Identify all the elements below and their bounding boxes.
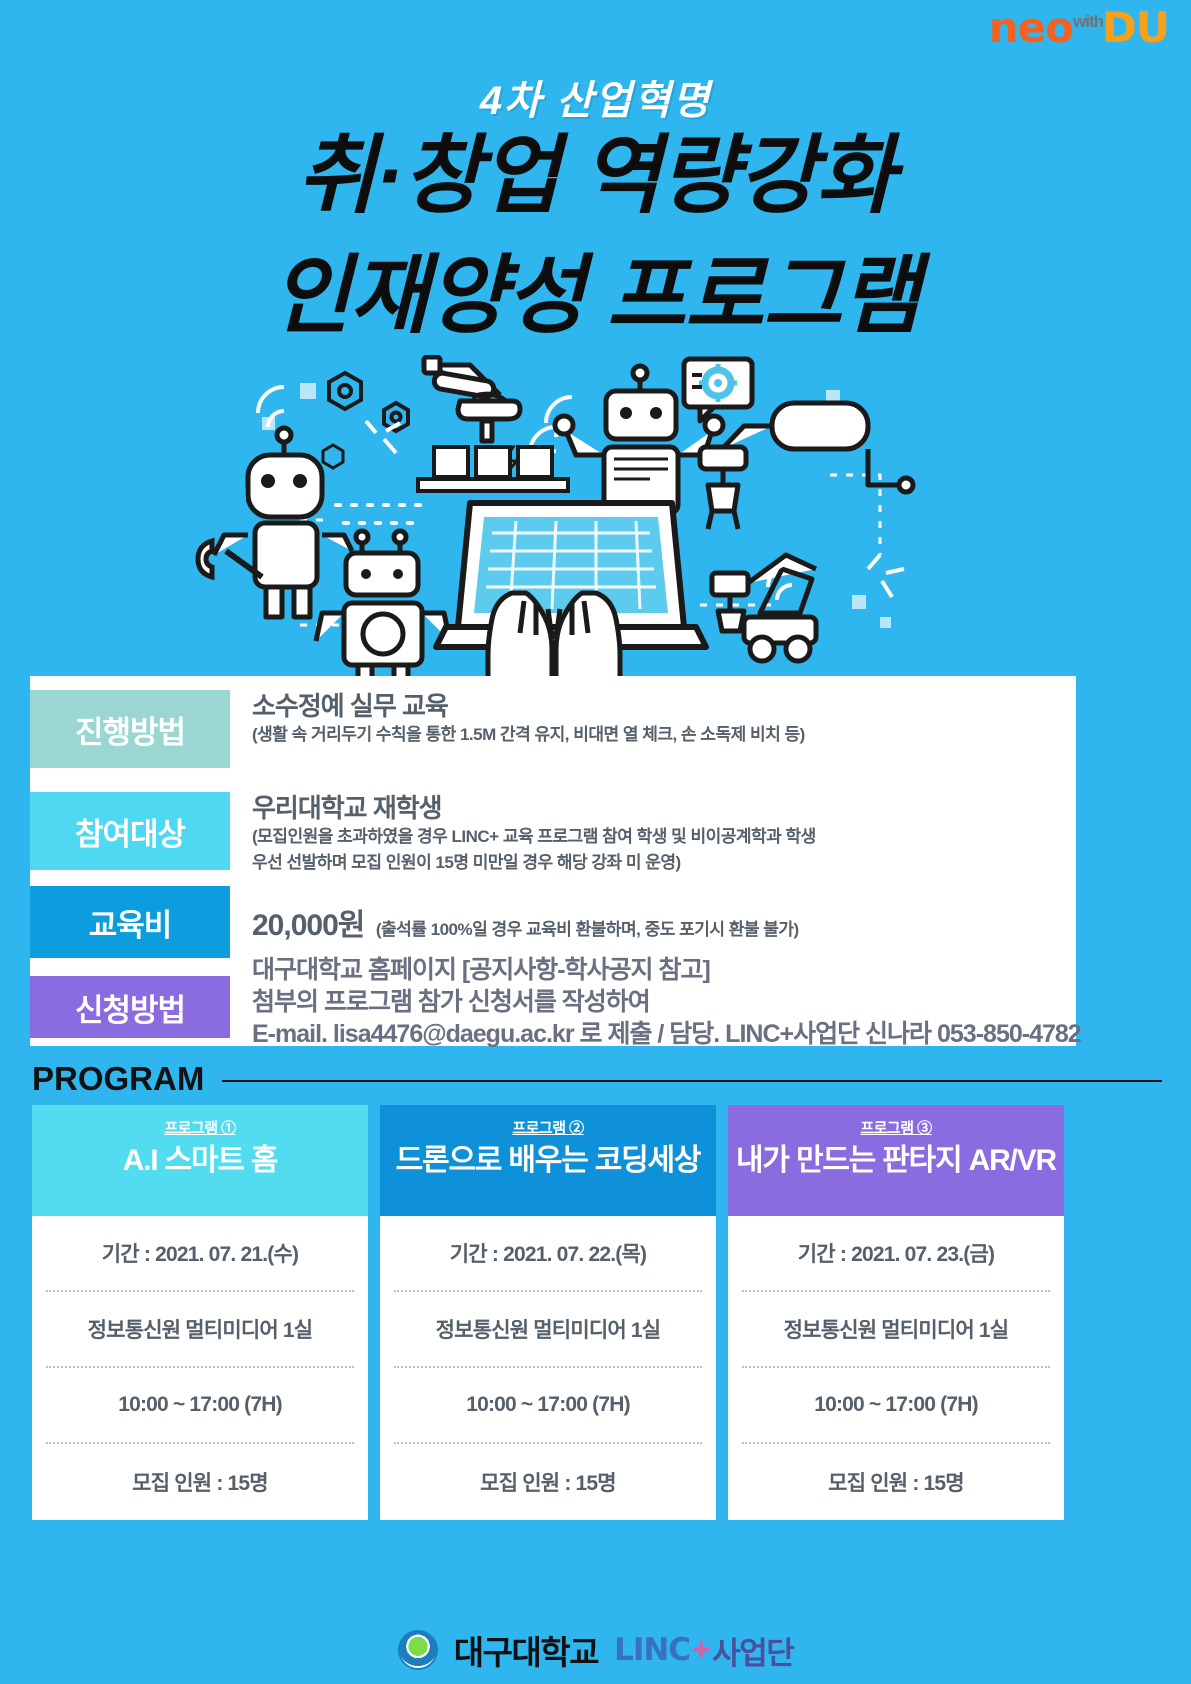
program-card-3-time: 10:00 ~ 17:00 (7H) bbox=[742, 1368, 1050, 1444]
program-card-3-period: 기간 : 2021. 07. 23.(금) bbox=[742, 1216, 1050, 1292]
logo-with-text: with bbox=[1073, 13, 1103, 30]
linc-business-group-text: 사업단 bbox=[712, 1628, 793, 1673]
program-card-2-period: 기간 : 2021. 07. 22.(목) bbox=[394, 1216, 702, 1292]
program-card-1-number: 프로그램 ① bbox=[164, 1117, 235, 1138]
poster-kicker: 4차 산업혁명 bbox=[0, 68, 1191, 126]
industry-4-illustration bbox=[0, 355, 1191, 680]
program-card-list: 프로그램 ① A.I 스마트 홈 기간 : 2021. 07. 21.(수) 정… bbox=[32, 1105, 1160, 1520]
program-card-2-header: 프로그램 ② 드론으로 배우는 코딩세상 bbox=[380, 1105, 716, 1216]
program-card-3-number: 프로그램 ③ bbox=[860, 1117, 931, 1138]
program-card-3-header: 프로그램 ③ 내가 만드는 판타지 AR/VR bbox=[728, 1105, 1064, 1216]
info-panel: 진행방법 소수정예 실무 교육 (생활 속 거리두기 수칙을 통한 1.5M 간… bbox=[30, 676, 1076, 1046]
apply-line-2: 첨부의 프로그램 참가 신청서를 작성하여 bbox=[252, 986, 1081, 1018]
info-tag-fee: 교육비 bbox=[30, 886, 230, 958]
robot-arm-top bbox=[424, 357, 520, 441]
spark-icon bbox=[868, 555, 904, 597]
info-row-apply: 신청방법 대구대학교 홈페이지 [공지사항-학사공지 참고] 첨부의 프로그램 … bbox=[30, 976, 1076, 1050]
program-card-3-capacity: 모집 인원 : 15명 bbox=[742, 1444, 1050, 1520]
info-tag-method: 진행방법 bbox=[30, 690, 230, 768]
linc-text: LINC bbox=[614, 1632, 690, 1668]
logo-neo-text: neo bbox=[989, 8, 1073, 48]
spark-icon-2 bbox=[366, 421, 400, 453]
program-card-3-place: 정보통신원 멀티미디어 1실 bbox=[742, 1292, 1050, 1368]
program-section-header: PROGRAM bbox=[32, 1060, 1162, 1098]
program-card-1-period: 기간 : 2021. 07. 21.(수) bbox=[46, 1216, 354, 1292]
info-heading-method: 소수정예 실무 교육 bbox=[252, 690, 1076, 722]
program-card-2-number: 프로그램 ② bbox=[512, 1117, 583, 1138]
footer-logos: 대구대학교 LINC + 사업단 bbox=[0, 1626, 1191, 1674]
wrench-icon bbox=[198, 541, 262, 577]
linc-plus-logo: LINC + 사업단 bbox=[614, 1628, 793, 1673]
info-tag-apply: 신청방법 bbox=[30, 976, 230, 1038]
info-row-method: 진행방법 소수정예 실무 교육 (생활 속 거리두기 수칙을 통한 1.5M 간… bbox=[30, 690, 1076, 768]
poster-title-line-1: 취·창업 역량강화 bbox=[0, 128, 1191, 224]
program-card-1-body: 기간 : 2021. 07. 21.(수) 정보통신원 멀티미디어 1실 10:… bbox=[32, 1216, 368, 1520]
program-card-3-body: 기간 : 2021. 07. 23.(금) 정보통신원 멀티미디어 1실 10:… bbox=[728, 1216, 1064, 1520]
chat-gear-bubble bbox=[684, 359, 752, 421]
info-heading-target: 우리대학교 재학생 bbox=[252, 792, 1076, 824]
program-card-1-place: 정보통신원 멀티미디어 1실 bbox=[46, 1292, 354, 1368]
info-subline-target-1: (모집인원을 초과하였을 경우 LINC+ 교육 프로그램 참여 학생 및 비이… bbox=[252, 824, 1076, 850]
linc-plus-sign: + bbox=[692, 1632, 710, 1668]
rover-arm bbox=[712, 555, 816, 661]
program-divider bbox=[222, 1080, 1162, 1082]
info-row-target: 참여대상 우리대학교 재학생 (모집인원을 초과하였을 경우 LINC+ 교육 … bbox=[30, 792, 1076, 876]
program-card-3-title: 내가 만드는 판타지 AR/VR bbox=[736, 1142, 1056, 1179]
program-card-2[interactable]: 프로그램 ② 드론으로 배우는 코딩세상 기간 : 2021. 07. 22.(… bbox=[380, 1105, 716, 1520]
poster-title-line-2: 인재양성 프로그램 bbox=[0, 248, 1191, 344]
program-card-1-title: A.I 스마트 홈 bbox=[123, 1142, 278, 1179]
program-card-2-time: 10:00 ~ 17:00 (7H) bbox=[394, 1368, 702, 1444]
program-card-1-capacity: 모집 인원 : 15명 bbox=[46, 1444, 354, 1520]
fee-note: (출석률 100%일 경우 교육비 환불하며, 중도 포기시 환불 불가) bbox=[376, 915, 799, 940]
fee-amount: 20,000원 bbox=[252, 900, 364, 944]
info-row-fee: 교육비 20,000원 (출석률 100%일 경우 교육비 환불하며, 중도 포… bbox=[30, 886, 1076, 958]
daegu-university-emblem-icon bbox=[398, 1630, 438, 1670]
robot-left bbox=[214, 428, 352, 617]
info-subline-target-2: 우선 선발하며 모집 인원이 15명 미만일 경우 해당 강좌 미 운영) bbox=[252, 850, 1076, 876]
program-card-1-header: 프로그램 ① A.I 스마트 홈 bbox=[32, 1105, 368, 1216]
info-subline-method-1: (생활 속 거리두기 수칙을 통한 1.5M 간격 유지, 비대면 열 체크, … bbox=[252, 722, 1076, 748]
info-tag-target: 참여대상 bbox=[30, 792, 230, 870]
robot-center bbox=[316, 531, 450, 680]
program-card-2-body: 기간 : 2021. 07. 22.(목) 정보통신원 멀티미디어 1실 10:… bbox=[380, 1216, 716, 1520]
program-label: PROGRAM bbox=[32, 1060, 204, 1098]
program-card-2-place: 정보통신원 멀티미디어 1실 bbox=[394, 1292, 702, 1368]
program-card-3[interactable]: 프로그램 ③ 내가 만드는 판타지 AR/VR 기간 : 2021. 07. 2… bbox=[728, 1105, 1064, 1520]
program-card-1-time: 10:00 ~ 17:00 (7H) bbox=[46, 1368, 354, 1444]
daegu-university-name: 대구대학교 bbox=[454, 1626, 598, 1674]
program-card-1[interactable]: 프로그램 ① A.I 스마트 홈 기간 : 2021. 07. 21.(수) 정… bbox=[32, 1105, 368, 1520]
logo-du-text: DU bbox=[1102, 8, 1169, 48]
neo-with-du-logo: neo with DU bbox=[989, 8, 1169, 48]
apply-line-1: 대구대학교 홈페이지 [공지사항-학사공지 참고] bbox=[252, 954, 1081, 986]
apply-line-3: E-mail. lisa4476@daegu.ac.kr 로 제출 / 담당. … bbox=[252, 1018, 1081, 1050]
program-card-2-title: 드론으로 배우는 코딩세상 bbox=[396, 1142, 701, 1179]
program-card-2-capacity: 모집 인원 : 15명 bbox=[394, 1444, 702, 1520]
